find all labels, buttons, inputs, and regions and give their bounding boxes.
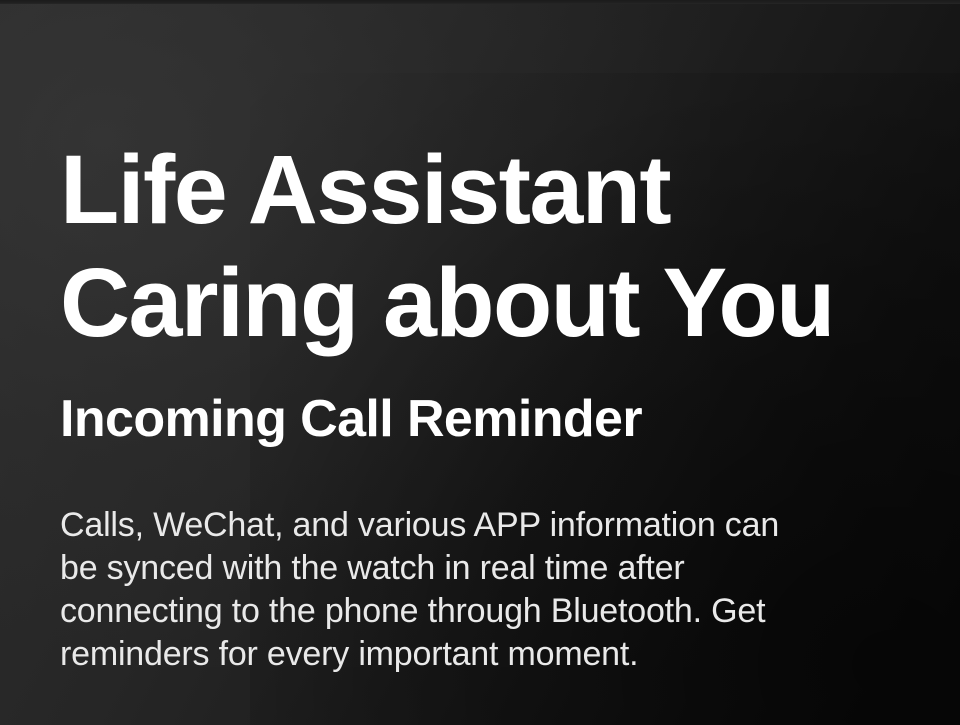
- body-copy-line-4: reminders for every important moment.: [60, 633, 895, 676]
- body-copy: Calls, WeChat, and various APP informati…: [60, 449, 895, 676]
- headline: Life Assistant Caring about You: [60, 0, 960, 359]
- life-assistant-promo-banner: Life Assistant Caring about You Incoming…: [0, 0, 960, 725]
- body-copy-line-1: Calls, WeChat, and various APP informati…: [60, 504, 895, 547]
- banner-content: Life Assistant Caring about You Incoming…: [60, 0, 960, 676]
- subheadline: Incoming Call Reminder: [60, 359, 960, 449]
- top-edge-divider: [0, 0, 960, 4]
- headline-line-1: Life Assistant: [60, 133, 960, 246]
- body-copy-line-3: connecting to the phone through Bluetoot…: [60, 590, 895, 633]
- headline-line-2: Caring about You: [60, 246, 960, 359]
- body-copy-line-2: be synced with the watch in real time af…: [60, 547, 895, 590]
